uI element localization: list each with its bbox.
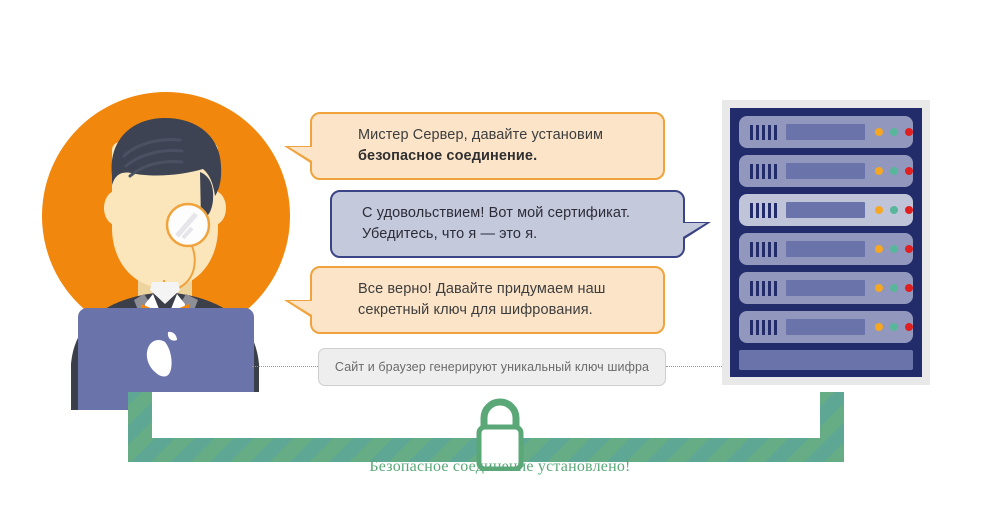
status-led-2-icon <box>890 128 898 136</box>
server-unit-2 <box>739 155 913 187</box>
bubble-line-2: секретный ключ для шифрования. <box>358 300 647 321</box>
status-led-3-icon <box>905 284 913 292</box>
speech-bubble-key: Все верно! Давайте придумаем наш секретн… <box>310 266 665 334</box>
status-led-2-icon <box>890 323 898 331</box>
server-unit-3 <box>739 194 913 226</box>
status-led-3-icon <box>905 128 913 136</box>
vent-bars-icon <box>750 164 777 179</box>
status-led-1-icon <box>875 128 883 136</box>
status-led-group <box>875 284 913 292</box>
drive-slot <box>786 241 865 257</box>
status-led-1-icon <box>875 206 883 214</box>
status-led-group <box>875 323 913 331</box>
status-led-group <box>875 128 913 136</box>
server-unit-6 <box>739 311 913 343</box>
rack-blank-panel <box>739 350 913 370</box>
vent-bars-icon <box>750 281 777 296</box>
status-led-2-icon <box>890 245 898 253</box>
server-rack <box>722 100 930 385</box>
status-led-1-icon <box>875 245 883 253</box>
status-led-3-icon <box>905 323 913 331</box>
bubble-tail-fill-icon <box>683 223 706 237</box>
key-generation-note: Сайт и браузер генерируют уникальный клю… <box>318 348 666 386</box>
gentleman-figure <box>20 80 310 410</box>
bottom-caption: Безопасное соединение установлено! <box>0 458 1000 476</box>
infographic-canvas: Мистер Сервер, давайте установим безопас… <box>0 0 1000 523</box>
bubble-line-2-bold: безопасное соединение. <box>358 148 537 164</box>
drive-slot <box>786 124 865 140</box>
bubble-tail-fill-icon <box>289 147 312 161</box>
bubble-line-1: Все верно! Давайте придумаем наш <box>358 279 647 300</box>
bubble-line-2: Убедитесь, что я — это я. <box>362 224 667 245</box>
status-led-2-icon <box>890 167 898 175</box>
drive-slot <box>786 319 865 335</box>
vent-bars-icon <box>750 320 777 335</box>
status-led-3-icon <box>905 245 913 253</box>
vent-bars-icon <box>750 242 777 257</box>
bubble-line-1: С удовольствием! Вот мой сертификат. <box>362 203 667 224</box>
browser-user-illustration <box>20 80 310 410</box>
status-led-group <box>875 245 913 253</box>
vent-bars-icon <box>750 125 777 140</box>
server-unit-1 <box>739 116 913 148</box>
server-unit-4 <box>739 233 913 265</box>
dotted-connector-left <box>252 366 320 367</box>
status-led-group <box>875 206 913 214</box>
status-led-2-icon <box>890 206 898 214</box>
status-led-1-icon <box>875 284 883 292</box>
status-led-group <box>875 167 913 175</box>
bubble-tail-fill-icon <box>289 301 312 315</box>
drive-slot <box>786 163 865 179</box>
server-rack-frame <box>730 108 922 377</box>
dotted-connector-right <box>666 366 724 367</box>
drive-slot <box>786 280 865 296</box>
vent-bars-icon <box>750 203 777 218</box>
status-led-1-icon <box>875 167 883 175</box>
speech-bubble-request: Мистер Сервер, давайте установим безопас… <box>310 112 665 180</box>
status-led-3-icon <box>905 167 913 175</box>
status-led-2-icon <box>890 284 898 292</box>
server-unit-5 <box>739 272 913 304</box>
status-led-3-icon <box>905 206 913 214</box>
speech-bubble-certificate: С удовольствием! Вот мой сертификат. Убе… <box>330 190 685 258</box>
bubble-line-1: Мистер Сервер, давайте установим <box>358 125 647 146</box>
drive-slot <box>786 202 865 218</box>
status-led-1-icon <box>875 323 883 331</box>
